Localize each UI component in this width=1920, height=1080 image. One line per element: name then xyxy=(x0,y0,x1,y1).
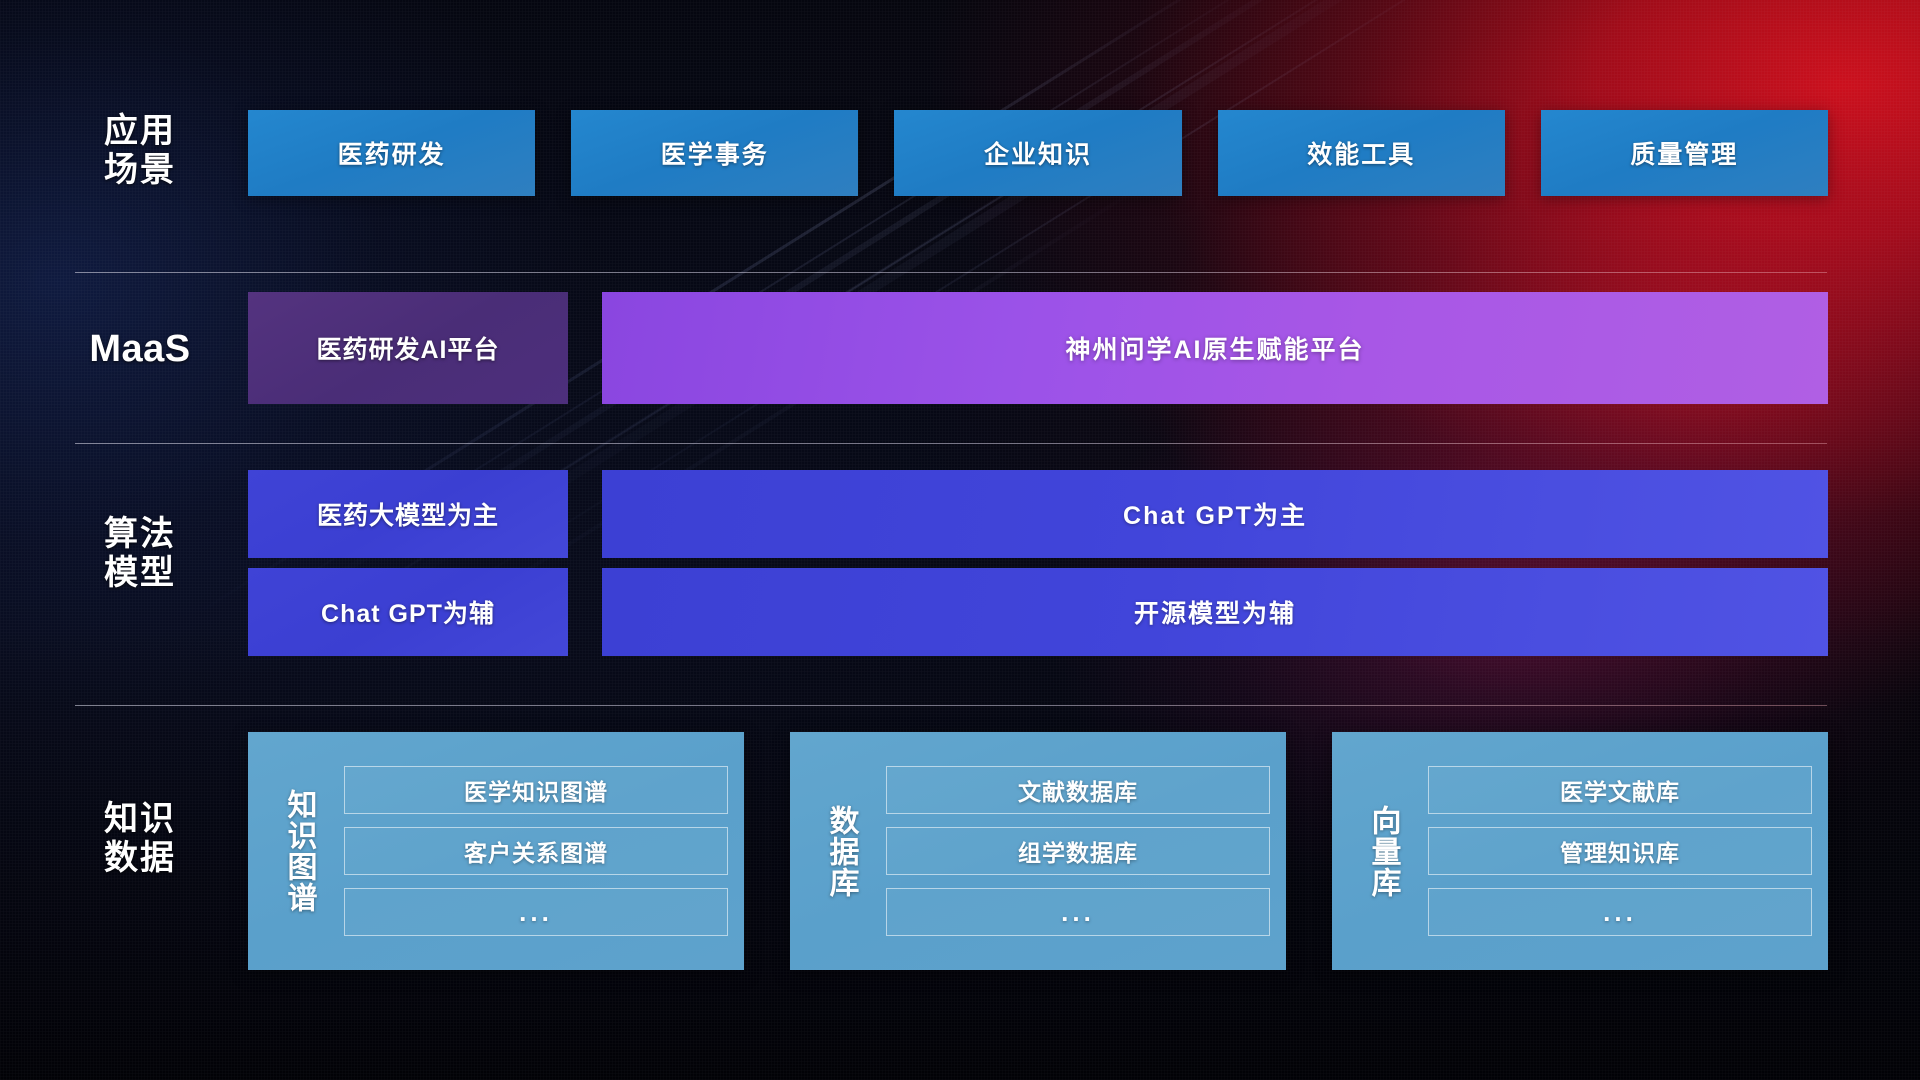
maas-box-shenzhou-platform[interactable]: 神州问学AI原生赋能平台 xyxy=(602,292,1828,404)
algorithm-model-row: 医药大模型为主 Chat GPT为主 Chat GPT为辅 开源模型为辅 xyxy=(248,470,1828,666)
architecture-diagram: 应用 场景 医药研发 医学事务 企业知识 效能工具 质量管理 MaaS 医药研发… xyxy=(0,0,1920,1080)
app-box-quality-management[interactable]: 质量管理 xyxy=(1541,110,1828,196)
knowledge-item-management-knowledge-store[interactable]: 管理知识库 xyxy=(1428,827,1812,875)
knowledge-panel-vector-store: 向量库 医学文献库 管理知识库 ... xyxy=(1332,732,1828,970)
knowledge-panel-label-database: 数据库 xyxy=(810,746,872,956)
knowledge-item-more[interactable]: ... xyxy=(886,888,1270,936)
divider-algorithm-knowledge xyxy=(75,705,1827,706)
divider-maas-algorithm xyxy=(75,443,1827,444)
knowledge-item-list: 文献数据库 组学数据库 ... xyxy=(872,766,1270,936)
row-label-algorithm: 算法 模型 xyxy=(75,515,205,594)
knowledge-item-more[interactable]: ... xyxy=(1428,888,1812,936)
knowledge-item-list: 医学文献库 管理知识库 ... xyxy=(1414,766,1812,936)
knowledge-panel-label-vector-store: 向量库 xyxy=(1352,746,1414,956)
maas-box-pharma-ai-platform[interactable]: 医药研发AI平台 xyxy=(248,292,568,404)
knowledge-item-customer-relation-graph[interactable]: 客户关系图谱 xyxy=(344,827,728,875)
knowledge-item-medical-knowledge-graph[interactable]: 医学知识图谱 xyxy=(344,766,728,814)
algo-box-pharma-llm-primary[interactable]: 医药大模型为主 xyxy=(248,470,568,558)
app-box-efficiency-tools[interactable]: 效能工具 xyxy=(1218,110,1505,196)
app-box-medical-affairs[interactable]: 医学事务 xyxy=(571,110,858,196)
maas-row: 医药研发AI平台 神州问学AI原生赋能平台 xyxy=(248,292,1828,404)
row-label-maas: MaaS xyxy=(75,327,205,371)
knowledge-panel-database: 数据库 文献数据库 组学数据库 ... xyxy=(790,732,1286,970)
knowledge-item-literature-database[interactable]: 文献数据库 xyxy=(886,766,1270,814)
knowledge-panel-label-knowledge-graph: 知识图谱 xyxy=(268,746,330,956)
app-box-enterprise-knowledge[interactable]: 企业知识 xyxy=(894,110,1181,196)
algo-box-opensource-secondary[interactable]: 开源模型为辅 xyxy=(602,568,1828,656)
algo-box-chatgpt-primary[interactable]: Chat GPT为主 xyxy=(602,470,1828,558)
app-box-medicine-rd[interactable]: 医药研发 xyxy=(248,110,535,196)
algorithm-line-secondary: Chat GPT为辅 开源模型为辅 xyxy=(248,568,1828,656)
application-scenarios-row: 医药研发 医学事务 企业知识 效能工具 质量管理 xyxy=(248,110,1828,196)
knowledge-panel-knowledge-graph: 知识图谱 医学知识图谱 客户关系图谱 ... xyxy=(248,732,744,970)
knowledge-item-omics-database[interactable]: 组学数据库 xyxy=(886,827,1270,875)
row-label-knowledge: 知识 数据 xyxy=(75,800,205,879)
knowledge-data-row: 知识图谱 医学知识图谱 客户关系图谱 ... 数据库 文献数据库 组学数据库 .… xyxy=(248,732,1828,970)
algo-box-chatgpt-secondary[interactable]: Chat GPT为辅 xyxy=(248,568,568,656)
knowledge-item-medical-literature-store[interactable]: 医学文献库 xyxy=(1428,766,1812,814)
row-label-application: 应用 场景 xyxy=(75,112,205,191)
algorithm-line-primary: 医药大模型为主 Chat GPT为主 xyxy=(248,470,1828,558)
knowledge-item-list: 医学知识图谱 客户关系图谱 ... xyxy=(330,766,728,936)
divider-application-maas xyxy=(75,272,1827,273)
knowledge-item-more[interactable]: ... xyxy=(344,888,728,936)
